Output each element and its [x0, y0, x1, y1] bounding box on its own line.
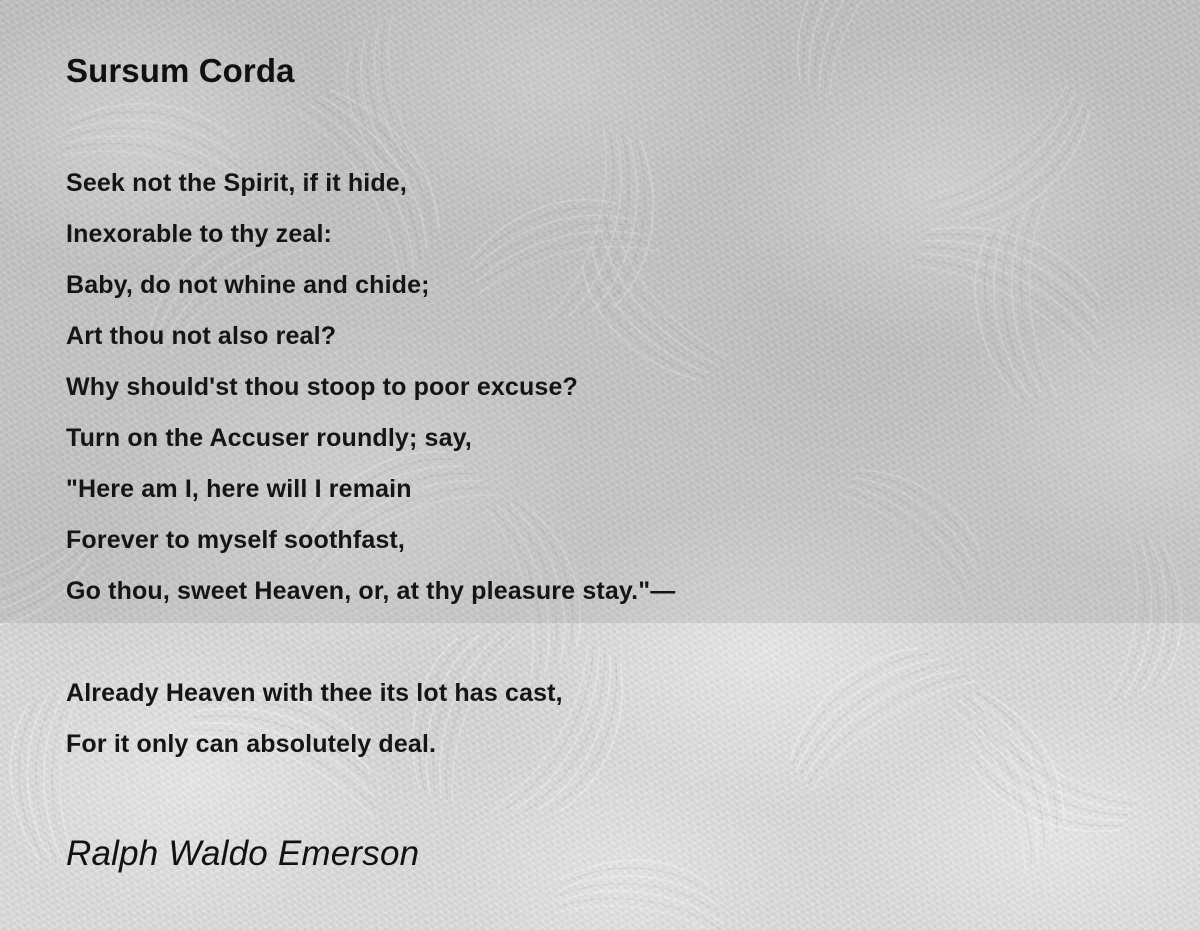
poem-body: Seek not the Spirit, if it hide,Inexorab…	[66, 158, 1166, 770]
poem-author: Ralph Waldo Emerson	[66, 834, 419, 874]
poem-line: Baby, do not whine and chide;	[66, 260, 1166, 311]
poem-content: Sursum Corda Seek not the Spirit, if it …	[0, 0, 1200, 930]
poem-line: "Here am I, here will I remain	[66, 464, 1166, 515]
poem-line: Art thou not also real?	[66, 311, 1166, 362]
poem-line: Go thou, sweet Heaven, or, at thy pleasu…	[66, 566, 1166, 617]
poem-line: Seek not the Spirit, if it hide,	[66, 158, 1166, 209]
poem-line: Inexorable to thy zeal:	[66, 209, 1166, 260]
poem-line: Turn on the Accuser roundly; say,	[66, 413, 1166, 464]
poem-line: Already Heaven with thee its lot has cas…	[66, 668, 1166, 719]
poem-title: Sursum Corda	[66, 52, 295, 90]
poem-line: For it only can absolutely deal.	[66, 719, 1166, 770]
poem-line: Forever to myself soothfast,	[66, 515, 1166, 566]
stanza-gap	[66, 617, 1166, 668]
poem-card: Sursum Corda Seek not the Spirit, if it …	[0, 0, 1200, 930]
poem-line: Why should'st thou stoop to poor excuse?	[66, 362, 1166, 413]
